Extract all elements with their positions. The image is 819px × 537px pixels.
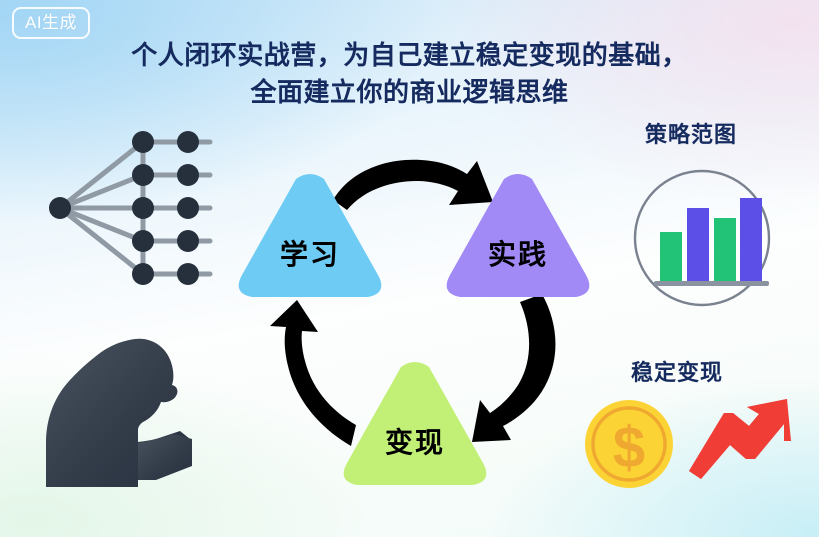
cycle-node-learn[interactable]: 学习 — [232, 167, 388, 305]
cycle-node-practice-label: 实践 — [440, 241, 596, 269]
caption-strategy: 策略范图 — [645, 124, 737, 146]
cycle-node-monetize-label: 变现 — [337, 429, 493, 457]
growth-arrow-icon — [683, 393, 793, 481]
dollar-coin-icon: $ — [580, 395, 678, 493]
cycle-node-monetize[interactable]: 变现 — [337, 355, 493, 493]
network-tree-icon — [38, 125, 218, 290]
triangle-shape-monetize — [337, 355, 493, 493]
cycle-node-practice[interactable]: 实践 — [440, 167, 596, 305]
ai-generated-badge: AI生成 — [12, 7, 90, 39]
title-line-1: 个人闭环实战营，为自己建立稳定变现的基础， — [0, 37, 819, 74]
title-line-2: 全面建立你的商业逻辑思维 — [0, 74, 819, 111]
caption-income: 稳定变现 — [631, 362, 723, 384]
page-title: 个人闭环实战营，为自己建立稳定变现的基础， 全面建立你的商业逻辑思维 — [0, 37, 819, 111]
svg-text:$: $ — [613, 415, 645, 480]
triangle-shape-practice — [440, 167, 596, 305]
poster-canvas: AI生成 个人闭环实战营，为自己建立稳定变现的基础， 全面建立你的商业逻辑思维 — [0, 0, 819, 537]
person-reading-silhouette-icon — [40, 335, 230, 515]
cycle-node-learn-label: 学习 — [232, 241, 388, 269]
triangle-shape-learn — [232, 167, 388, 305]
bar-chart-in-circle-icon — [626, 168, 778, 308]
